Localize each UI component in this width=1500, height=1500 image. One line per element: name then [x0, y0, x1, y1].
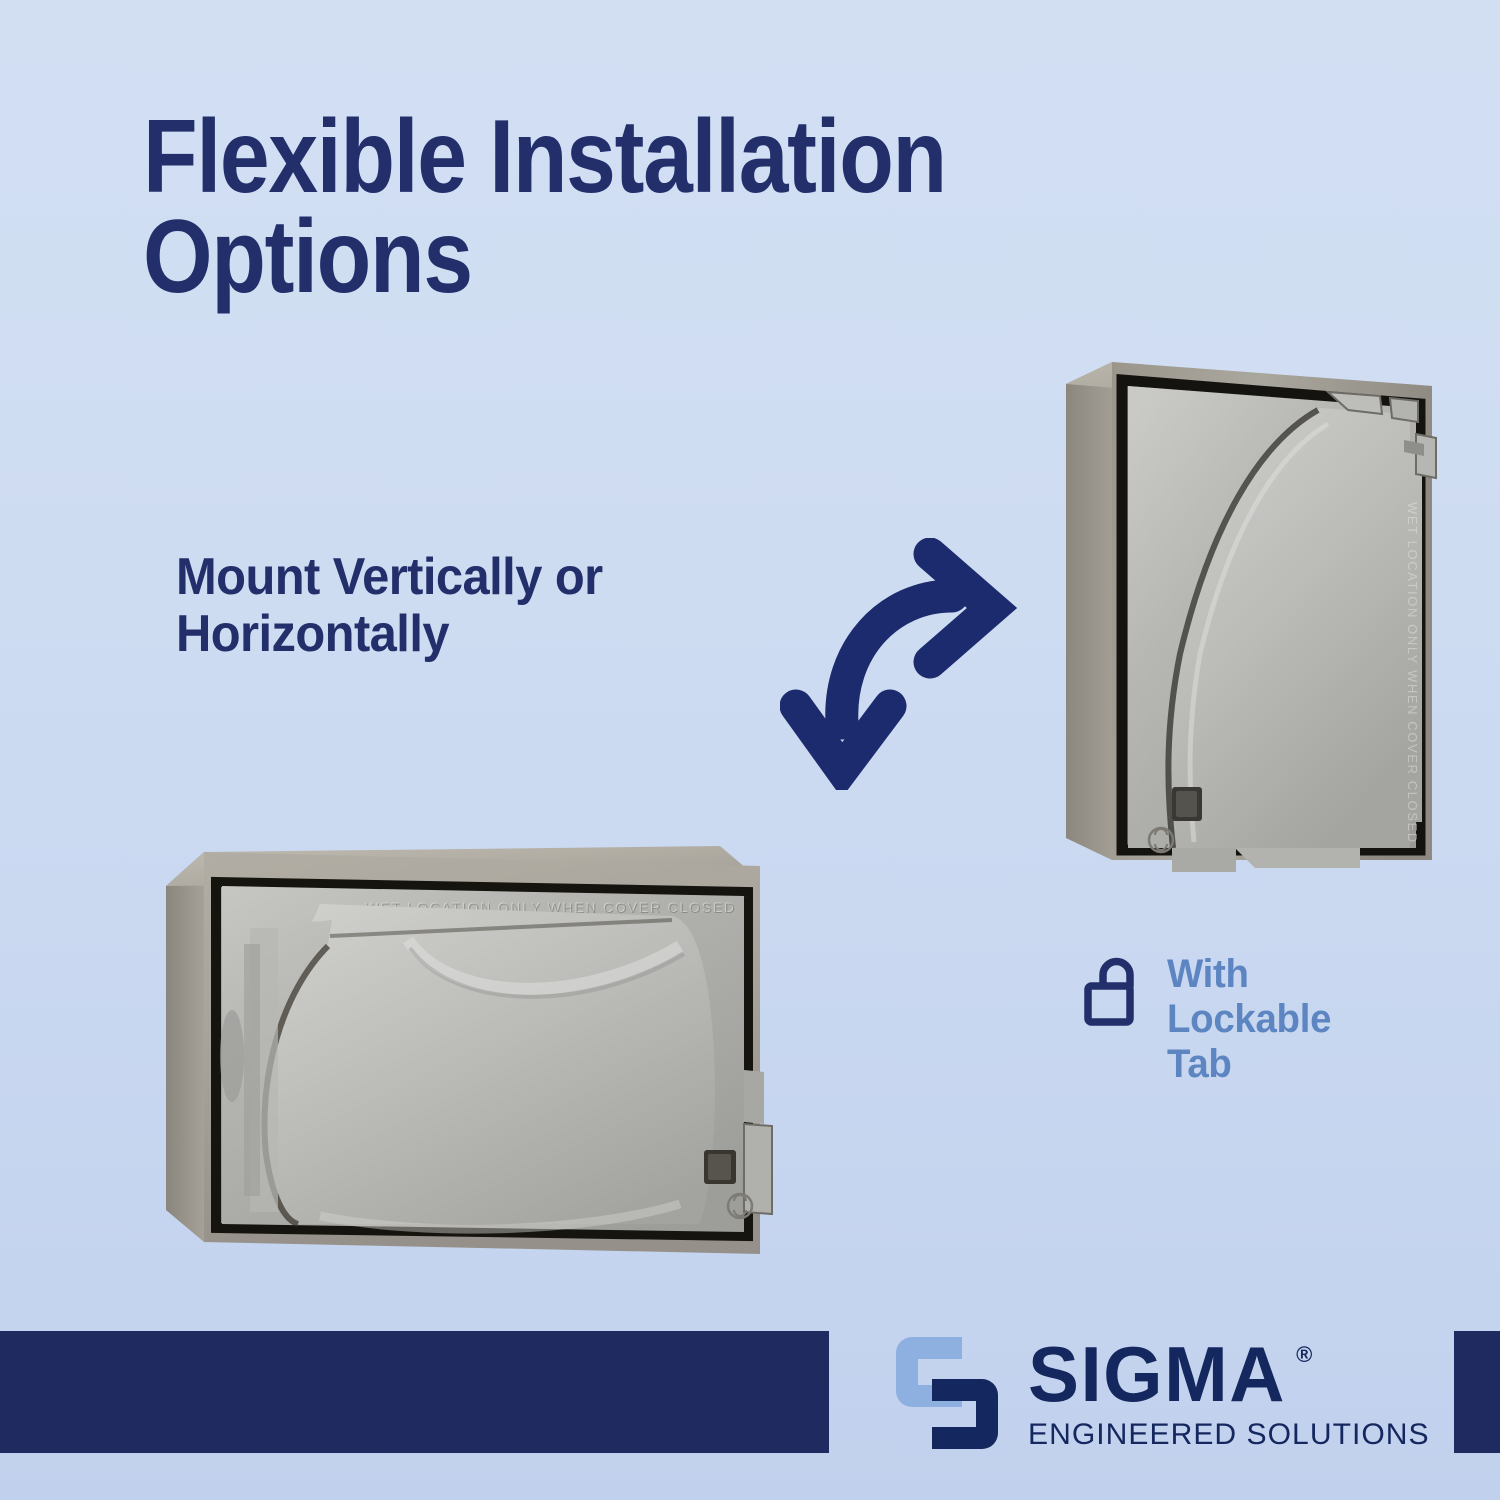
- curved-double-arrow-icon: [780, 538, 1030, 790]
- infographic-canvas: Flexible Installation Options Mount Vert…: [0, 0, 1500, 1500]
- footer-bar-right: [1454, 1331, 1500, 1453]
- sigma-tagline: ENGINEERED SOLUTIONS: [1028, 1418, 1430, 1452]
- lockable-tab-label: With Lockable Tab: [1167, 952, 1331, 1086]
- footer-bar-left: [0, 1331, 829, 1453]
- page-title: Flexible Installation Options: [143, 108, 1020, 308]
- lockable-tab-callout: With Lockable Tab: [1083, 952, 1338, 1086]
- sigma-logo: SIGMA ® ENGINEERED SOLUTIONS: [888, 1329, 1422, 1457]
- open-padlock-icon: [1083, 956, 1145, 1028]
- registered-trademark-symbol: ®: [1296, 1344, 1312, 1366]
- product-photo-vertical: WET LOCATION ONLY WHEN COVER CLOSED: [1060, 352, 1440, 912]
- sigma-wordmark-block: SIGMA ® ENGINEERED SOLUTIONS: [1028, 1334, 1422, 1453]
- product-photo-horizontal: WET LOCATION ONLY WHEN COVER CLOSED WET …: [160, 824, 822, 1276]
- sigma-interlocking-brackets-icon: [888, 1329, 1006, 1457]
- sigma-wordmark: SIGMA: [1028, 1340, 1286, 1409]
- svg-text:WET LOCATION ONLY WHEN COVER C: WET LOCATION ONLY WHEN COVER CLOSED: [1405, 502, 1420, 844]
- subheading-mount-orientation: Mount Vertically or Horizontally: [176, 549, 759, 663]
